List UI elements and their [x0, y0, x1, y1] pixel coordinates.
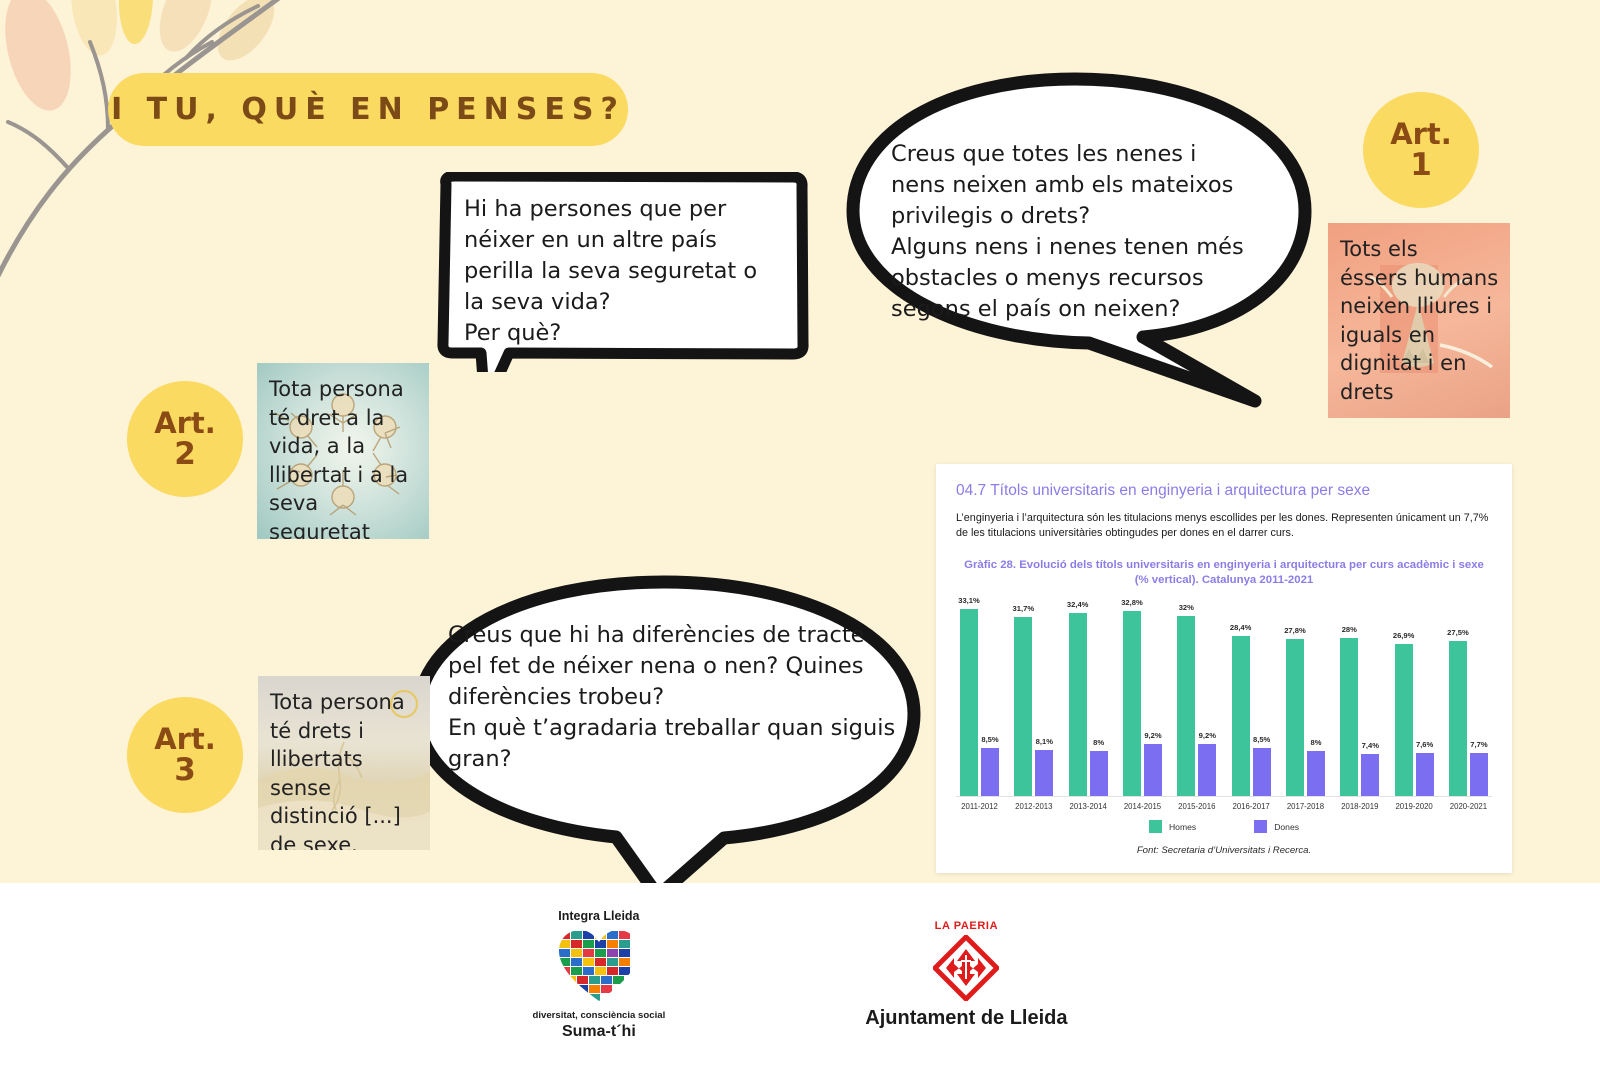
article-badge-1-number: 1	[1410, 149, 1432, 182]
page-title: I TU, QUÈ EN PENSES?	[111, 92, 625, 127]
article-badge-3-label: Art.	[154, 724, 216, 754]
legend-label-homes: Homes	[1169, 822, 1196, 832]
x-tick-2018-2019: 2018-2019	[1340, 802, 1379, 811]
speech-bubble-gender: Creus que hi ha diferències de tracte pe…	[408, 574, 923, 904]
bar-value-label: 9,2%	[1199, 731, 1216, 740]
bar-group: 27,8%8%	[1286, 594, 1325, 796]
bar-group: 27,5%7,7%	[1449, 594, 1488, 796]
chart-legend: Homes Dones	[956, 820, 1492, 833]
article-badge-2-number: 2	[174, 438, 196, 471]
x-axis-tick-labels: 2011-20122012-20132013-20142014-20152015…	[956, 797, 1492, 811]
legend-item-dones: Dones	[1254, 820, 1299, 833]
header-banner: I TU, QUÈ EN PENSES?	[108, 73, 628, 146]
bar-homes-2015-2016: 32%	[1177, 616, 1195, 796]
chart-title: Gràfic 28. Evolució dels títols universi…	[956, 558, 1492, 588]
bar-value-label: 33,1%	[958, 596, 980, 605]
bar-homes-2011-2012: 33,1%	[960, 609, 978, 796]
bar-value-label: 27,5%	[1447, 628, 1469, 637]
logo-integra-lleida: Integra Lleida	[532, 909, 665, 1041]
ajuntament-name: Ajuntament de Lleida	[865, 1007, 1067, 1030]
bar-homes-2014-2015: 32,8%	[1123, 611, 1141, 796]
x-tick-2019-2020: 2019-2020	[1395, 802, 1434, 811]
bar-homes-2018-2019: 28%	[1340, 638, 1358, 796]
chart-panel: 04.7 Títols universitaris en enginyeria …	[936, 464, 1512, 873]
integra-slogan: Suma-t´hi	[562, 1023, 636, 1041]
bar-group: 26,9%7,6%	[1395, 594, 1434, 796]
legend-item-homes: Homes	[1149, 820, 1196, 833]
flag-heart-icon	[555, 927, 643, 1005]
bar-dones-2012-2013: 8,1%	[1035, 750, 1053, 796]
bar-group: 32%9,2%	[1177, 594, 1216, 796]
bar-dones-2013-2014: 8%	[1090, 751, 1108, 796]
article-badge-2: Art. 2	[127, 381, 243, 497]
speech-bubble-country: Hi ha persones que per néixer en un altr…	[437, 172, 809, 372]
bar-dones-2018-2019: 7,4%	[1361, 754, 1379, 796]
legend-swatch-homes	[1149, 820, 1162, 833]
bubble-text-privileges: Creus que totes les nenes i nens neixen …	[891, 139, 1261, 325]
bubble-text-gender: Creus que hi ha diferències de tracte pe…	[448, 620, 898, 775]
bar-value-label: 7,6%	[1416, 740, 1433, 749]
bar-value-label: 7,7%	[1470, 740, 1487, 749]
footer-bar: Integra Lleida	[0, 883, 1600, 1066]
chart-source-note: Font: Secretaria d’Universitats i Recerc…	[956, 845, 1492, 856]
bar-group: 33,1%8,5%	[960, 594, 999, 796]
bar-value-label: 8,5%	[1253, 735, 1270, 744]
article-badge-3: Art. 3	[127, 697, 243, 813]
article-badge-1: Art. 1	[1363, 92, 1479, 208]
article-card-1: Tots els éssers humans neixen lliures i …	[1328, 223, 1510, 418]
bar-dones-2016-2017: 8,5%	[1253, 748, 1271, 796]
x-tick-2016-2017: 2016-2017	[1232, 802, 1271, 811]
legend-swatch-dones	[1254, 820, 1267, 833]
bar-value-label: 7,4%	[1362, 741, 1379, 750]
article-card-1-text: Tots els éssers humans neixen lliures i …	[1340, 235, 1500, 406]
bar-value-label: 32%	[1179, 603, 1194, 612]
bar-value-label: 28%	[1342, 625, 1357, 634]
paeria-label: LA PAERIA	[935, 920, 998, 932]
bar-value-label: 27,8%	[1284, 626, 1306, 635]
x-tick-2011-2012: 2011-2012	[960, 802, 999, 811]
x-tick-2015-2016: 2015-2016	[1177, 802, 1216, 811]
article-card-3: Tota persona té drets i llibertats sense…	[258, 676, 430, 850]
bar-value-label: 32,4%	[1067, 600, 1089, 609]
bar-homes-2019-2020: 26,9%	[1395, 644, 1413, 796]
integra-subtitle: diversitat, consciència social	[532, 1010, 665, 1021]
bar-value-label: 26,9%	[1393, 631, 1415, 640]
bar-value-label: 8%	[1310, 738, 1321, 747]
article-badge-2-label: Art.	[154, 408, 216, 438]
bar-value-label: 32,8%	[1121, 598, 1143, 607]
paeria-crest-icon	[933, 935, 999, 1001]
bar-homes-2013-2014: 32,4%	[1069, 613, 1087, 796]
article-card-2: Tota persona té dret a la vida, a la lli…	[257, 363, 429, 539]
x-tick-2013-2014: 2013-2014	[1069, 802, 1108, 811]
bar-dones-2017-2018: 8%	[1307, 751, 1325, 796]
chart-intro-paragraph: L’enginyeria i l’arquitectura són les ti…	[956, 511, 1492, 540]
bar-value-label: 9,2%	[1144, 731, 1161, 740]
article-badge-1-label: Art.	[1390, 119, 1452, 149]
bar-dones-2015-2016: 9,2%	[1198, 744, 1216, 796]
x-tick-2017-2018: 2017-2018	[1286, 802, 1325, 811]
x-tick-2020-2021: 2020-2021	[1449, 802, 1488, 811]
bar-homes-2020-2021: 27,5%	[1449, 641, 1467, 796]
bar-group: 28%7,4%	[1340, 594, 1379, 796]
chart-section-heading: 04.7 Títols universitaris en enginyeria …	[956, 482, 1492, 500]
article-card-2-text: Tota persona té dret a la vida, a la lli…	[269, 375, 419, 539]
bar-homes-2017-2018: 27,8%	[1286, 639, 1304, 796]
x-tick-2014-2015: 2014-2015	[1123, 802, 1162, 811]
article-card-3-text: Tota persona té drets i llibertats sense…	[270, 688, 420, 850]
bar-dones-2020-2021: 7,7%	[1470, 753, 1488, 796]
bar-value-label: 31,7%	[1013, 604, 1035, 613]
x-tick-2012-2013: 2012-2013	[1014, 802, 1053, 811]
bubble-text-country: Hi ha persones que per néixer en un altr…	[464, 194, 794, 349]
bar-group: 32,8%9,2%	[1123, 594, 1162, 796]
bar-dones-2014-2015: 9,2%	[1144, 744, 1162, 796]
bar-value-label: 28,4%	[1230, 623, 1252, 632]
bar-group: 32,4%8%	[1069, 594, 1108, 796]
bar-value-label: 8,1%	[1036, 737, 1053, 746]
bar-group: 31,7%8,1%	[1014, 594, 1053, 796]
bar-dones-2019-2020: 7,6%	[1416, 753, 1434, 796]
bar-value-label: 8,5%	[981, 735, 998, 744]
logo-ajuntament-lleida: LA PAERIA Ajuntament de Lleida	[865, 920, 1067, 1030]
article-badge-3-number: 3	[174, 754, 196, 787]
bar-homes-2012-2013: 31,7%	[1014, 617, 1032, 796]
integra-title: Integra Lleida	[558, 909, 639, 923]
bar-homes-2016-2017: 28,4%	[1232, 636, 1250, 796]
bar-value-label: 8%	[1093, 738, 1104, 747]
speech-bubble-privileges: Creus que totes les nenes i nens neixen …	[843, 71, 1313, 416]
bar-group: 28,4%8,5%	[1232, 594, 1271, 796]
bar-chart-plot-area: 33,1%8,5%31,7%8,1%32,4%8%32,8%9,2%32%9,2…	[956, 594, 1492, 797]
bar-dones-2011-2012: 8,5%	[981, 748, 999, 796]
legend-label-dones: Dones	[1274, 822, 1299, 832]
